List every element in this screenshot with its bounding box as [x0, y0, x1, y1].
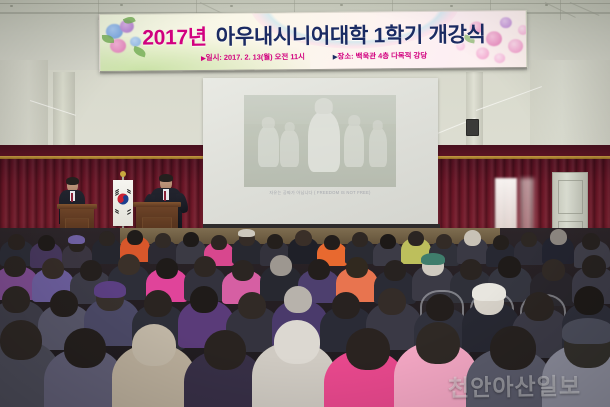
- audience-hat: [94, 281, 126, 298]
- banner-datetime: 일시: 2017. 2. 13(월) 오전 11시: [206, 52, 305, 62]
- door-panel: [558, 180, 583, 214]
- audience-head: [521, 232, 537, 247]
- audience-head: [64, 328, 106, 368]
- audience-head: [50, 290, 78, 317]
- ceiling-fixture: [450, 5, 453, 7]
- audience-head: [464, 230, 481, 246]
- audience-hat: [238, 229, 255, 237]
- ceiling-fixture: [230, 5, 233, 7]
- speaker-right-tie: [164, 191, 166, 201]
- projected-slide: [244, 95, 396, 187]
- audience-head: [378, 288, 406, 315]
- audience-head: [550, 229, 567, 245]
- audience-head: [38, 235, 55, 251]
- slide-figure: [369, 128, 387, 167]
- ceiling-beam: [0, 3, 610, 4]
- slide-figure: [308, 112, 340, 173]
- audience-head: [190, 286, 218, 313]
- ceiling-fixture: [120, 4, 123, 6]
- speaker-right-hair: [159, 174, 173, 182]
- event-banner: 2017년아우내시니어대학 1학기 개강식 ▶일시: 2017. 2. 13(월…: [99, 10, 528, 72]
- speaker-left-tie: [71, 193, 73, 202]
- slide-figure: [258, 126, 279, 166]
- audience-head: [352, 232, 368, 247]
- podium-top: [133, 202, 181, 207]
- audience-head: [332, 292, 360, 319]
- audience-hat: [562, 318, 610, 344]
- audience-head: [493, 235, 509, 250]
- banner-event-title: 아우내시니어대학 1학기 개강식: [216, 23, 486, 49]
- trigram-mark: [127, 212, 131, 215]
- ceiling-fixture: [340, 4, 343, 6]
- flagpole-finial: [120, 171, 126, 177]
- audience-head: [99, 231, 115, 246]
- audience-head: [346, 328, 390, 370]
- audience-head: [346, 257, 368, 278]
- audience-head: [204, 330, 246, 370]
- audience-head: [542, 259, 565, 281]
- audience-head: [132, 324, 176, 366]
- audience-head: [490, 326, 536, 370]
- audience-head: [274, 320, 320, 364]
- audience-head: [232, 260, 254, 281]
- korean-flag: [113, 180, 133, 226]
- audience-head: [284, 286, 312, 313]
- audience-head: [156, 258, 178, 279]
- audience-head: [8, 234, 25, 250]
- watermark: 천안아산일보: [448, 367, 582, 403]
- audience-head: [238, 292, 266, 319]
- audience-head: [183, 232, 199, 247]
- audience-head: [308, 259, 330, 280]
- audience-hat: [421, 253, 445, 265]
- ceiling-fixture: [10, 5, 13, 7]
- audience-head: [270, 255, 292, 276]
- podium-top: [57, 204, 97, 209]
- banner-place: 장소: 백욱관 4층 다목적 강당: [337, 51, 427, 61]
- photograph: 자유는 공짜가 아닙니다 ( FREEDOM IS NOT FREE) 2017…: [0, 0, 610, 407]
- audience-head: [582, 255, 606, 278]
- audience-hat: [472, 283, 506, 301]
- audience-head: [380, 234, 396, 249]
- audience-head: [416, 322, 460, 364]
- audience-head: [194, 256, 216, 277]
- audience-head: [42, 258, 64, 279]
- audience-head: [426, 294, 454, 321]
- audience-head: [460, 259, 482, 280]
- audience-head: [2, 286, 30, 313]
- speaker-left-hair: [66, 177, 79, 185]
- audience-head: [574, 286, 604, 315]
- slide-figure: [280, 130, 298, 167]
- slide-figure: [344, 124, 364, 166]
- banner-year: 2017년: [142, 26, 207, 50]
- audience-head: [0, 320, 42, 360]
- audience-head: [4, 256, 26, 277]
- audience-head: [324, 235, 340, 250]
- slide-caption: 자유는 공짜가 아닙니다 ( FREEDOM IS NOT FREE): [244, 190, 396, 196]
- audience-hat: [68, 235, 85, 244]
- audience-head: [384, 260, 406, 281]
- wall-speaker-icon: [466, 119, 479, 136]
- audience-head: [80, 260, 102, 281]
- audience-head: [144, 290, 172, 317]
- audience-head: [436, 234, 452, 249]
- audience-head: [211, 235, 227, 250]
- audience-head: [498, 256, 521, 278]
- audience-head: [155, 233, 171, 248]
- audience-head: [582, 233, 600, 250]
- audience-head: [295, 230, 312, 246]
- audience-head: [127, 230, 143, 245]
- banner-title: 2017년아우내시니어대학 1학기 개강식: [100, 24, 527, 49]
- audience-head: [408, 231, 424, 246]
- audience-head: [118, 254, 140, 275]
- audience-head: [524, 292, 554, 321]
- audience-head: [267, 234, 283, 249]
